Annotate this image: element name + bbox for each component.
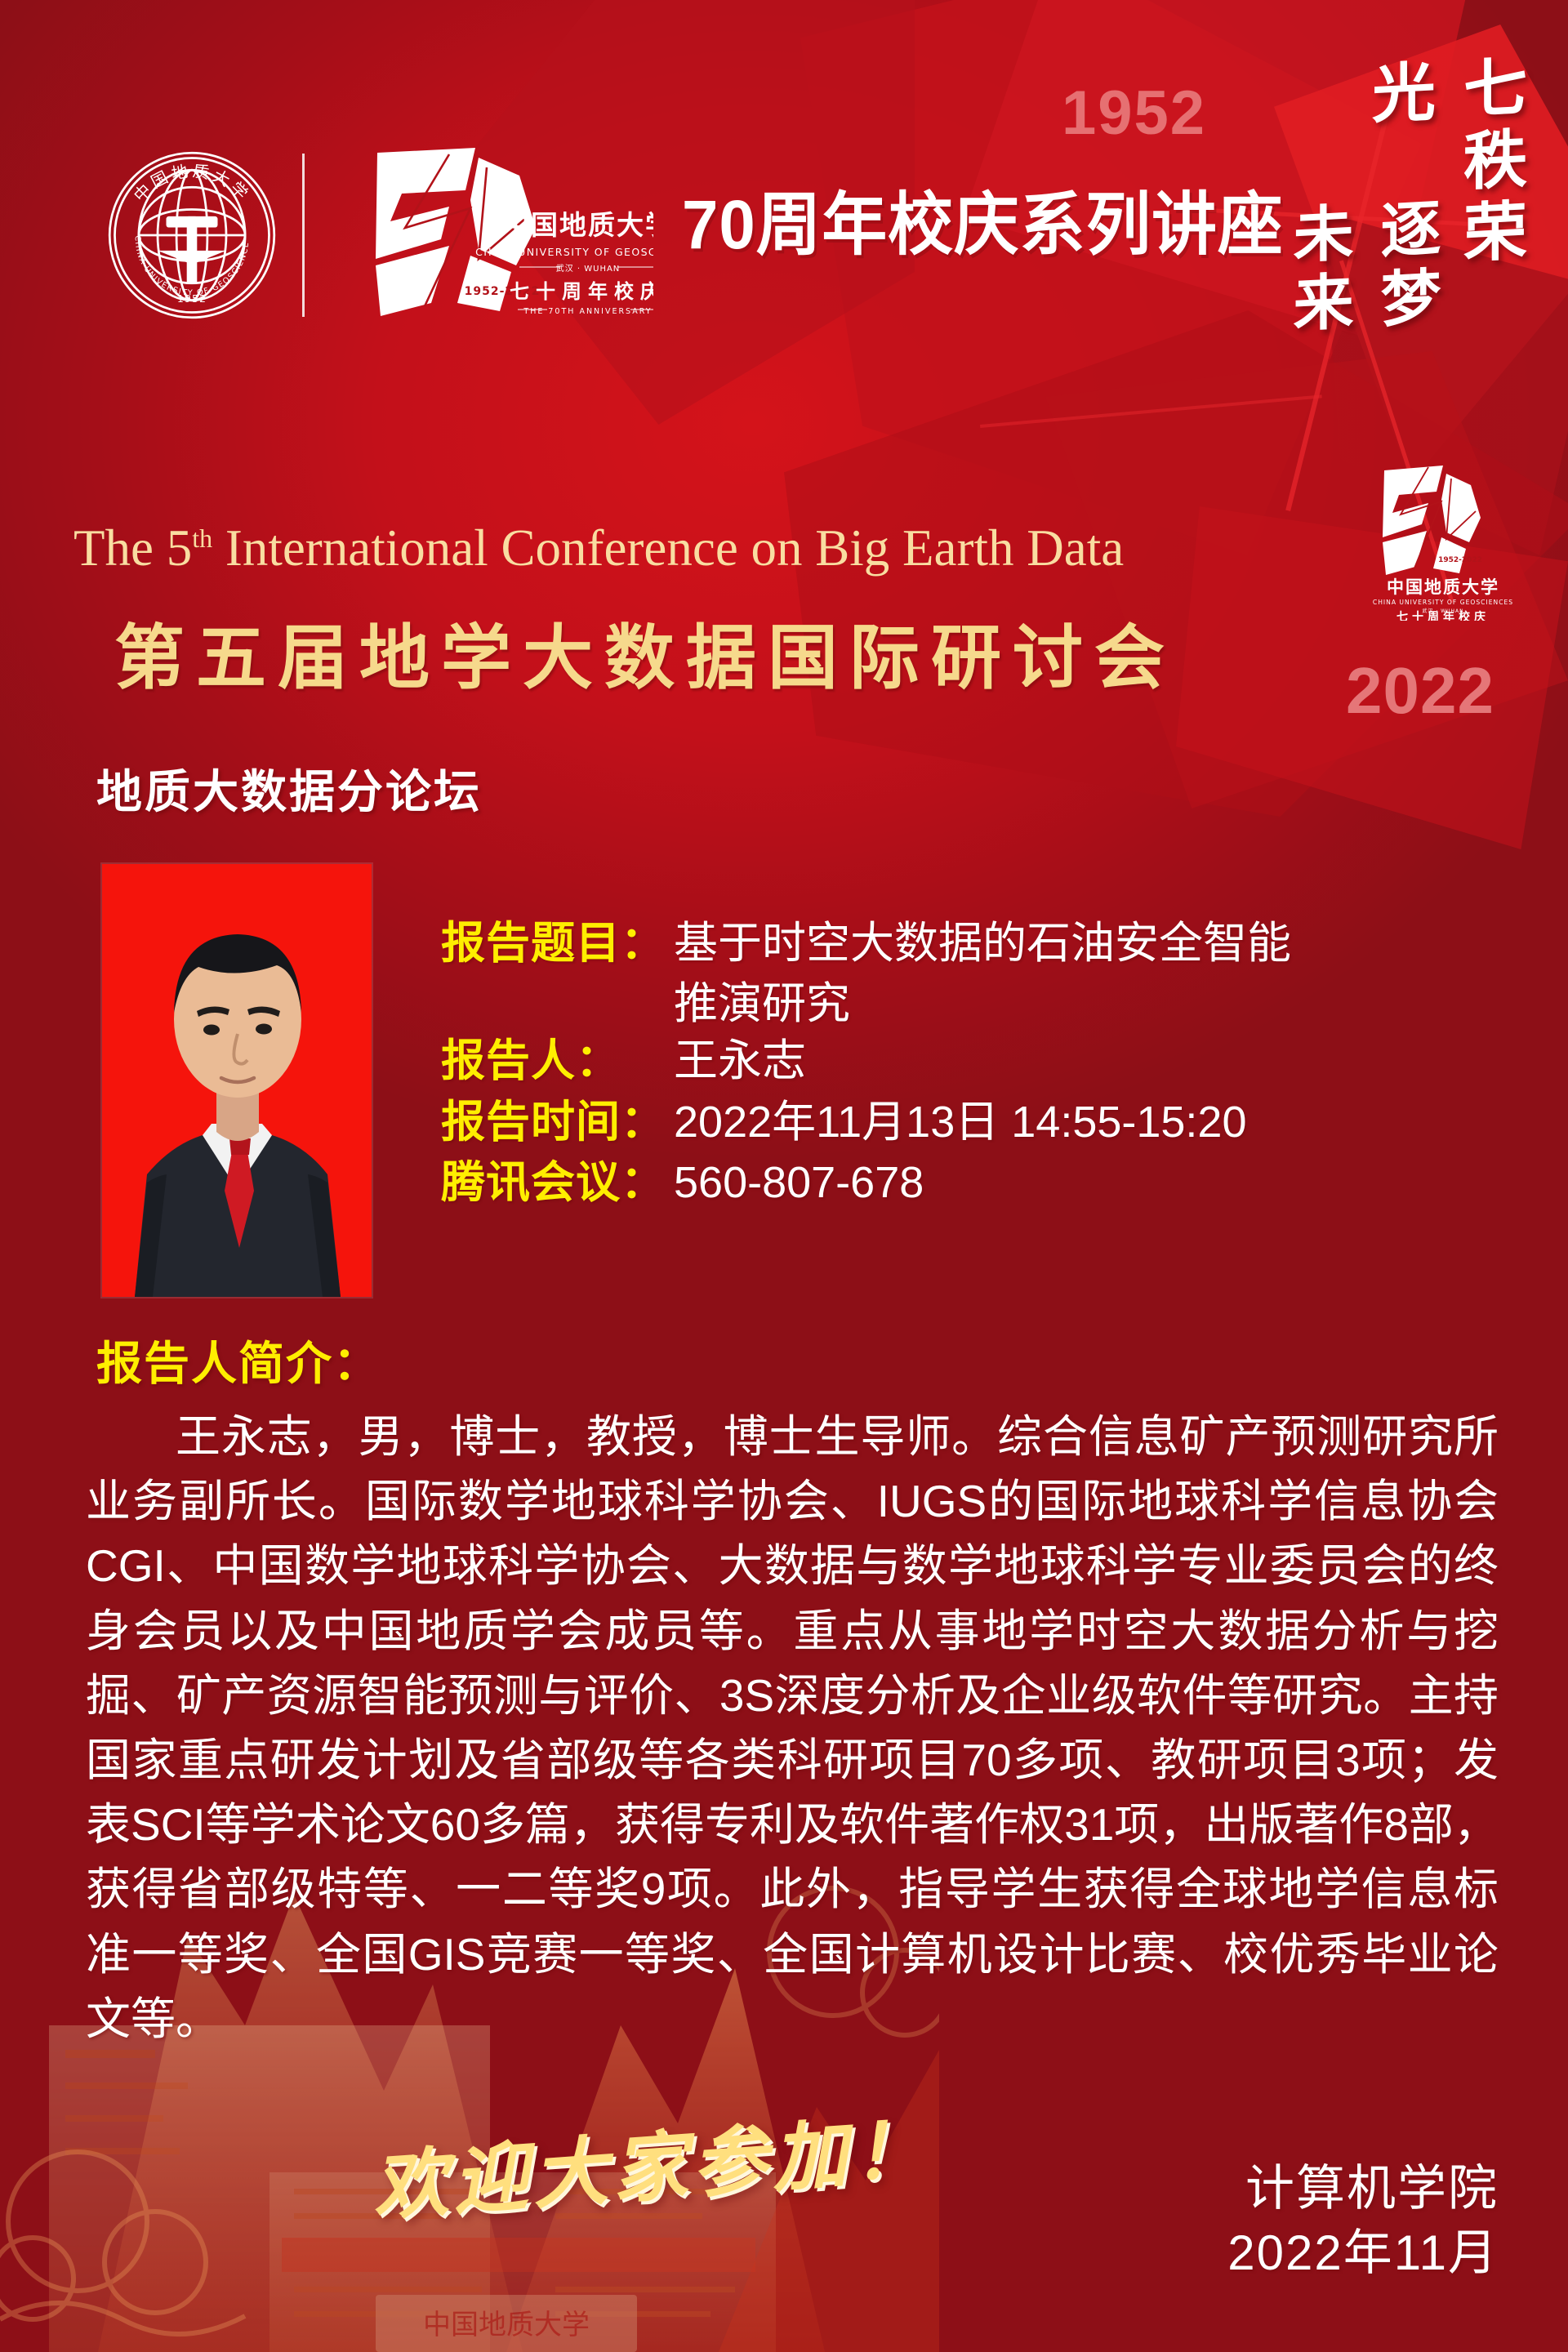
deco-building-sign: 中国地质大学 xyxy=(423,2309,590,2341)
logo-anniversary-cn: 七十周年校庆 xyxy=(510,279,653,303)
conference-title-en-prefix: The 5 xyxy=(73,519,192,577)
department-name: 计算机学院 xyxy=(1227,2156,1499,2221)
university-emblem-icon: 中国地质大学 CHINA UNIVERSITY OF GEOSCIENCES 1… xyxy=(106,149,278,321)
talk-title-value-line2: 推演研究 xyxy=(674,975,1535,1032)
poster-header: 中国地质大学 CHINA UNIVERSITY OF GEOSCIENCES 1… xyxy=(0,0,1568,343)
forum-name: 地质大数据分论坛 xyxy=(96,755,482,822)
logo-name-cn: 中国地质大学 xyxy=(502,209,653,241)
meeting-value: 560-807-678 xyxy=(674,1154,1535,1211)
banner-title: 70周年校庆系列讲座 xyxy=(682,170,1284,269)
talk-title-label: 报告题目： xyxy=(441,915,674,972)
bio-heading: 报告人简介： xyxy=(96,1327,381,1393)
talk-title-row: 报告题目： 基于时空大数据的石油安全智能 xyxy=(441,915,1535,972)
conference-title-en-ordinal: th xyxy=(192,523,212,553)
talk-info-block: 报告题目： 基于时空大数据的石油安全智能 推演研究 报告人： 王永志 报告时间：… xyxy=(441,915,1535,1214)
poster-root: 中国地质大学 xyxy=(0,0,1568,2352)
svg-text:中国地质大学: 中国地质大学 xyxy=(130,161,255,206)
bio-text: 王永志，男，博士，教授，博士生导师。综合信息矿产预测研究所业务副所长。国际数学地… xyxy=(86,1405,1499,2051)
poster-date: 2022年11月 xyxy=(1227,2221,1499,2285)
talk-title-value-line1: 基于时空大数据的石油安全智能 xyxy=(674,915,1535,972)
logo2-anniversary-cn: 七十周年校庆 xyxy=(1396,610,1490,621)
talk-time-label: 报告时间： xyxy=(441,1094,674,1151)
logo-city: 武汉 · WUHAN xyxy=(556,263,621,274)
logo2-name-cn: 中国地质大学 xyxy=(1387,577,1499,597)
speaker-portrait xyxy=(102,864,372,1297)
meeting-label: 腾讯会议： xyxy=(441,1154,674,1211)
conference-title-en: The 5th International Conference on Big … xyxy=(73,519,1331,578)
year-current-watermark: 2022 xyxy=(1346,653,1494,728)
talk-time-row: 报告时间： 2022年11月13日 14:55-15:20 xyxy=(441,1094,1535,1151)
emblem-name-cn: 中国地质大学 xyxy=(130,161,255,206)
conference-title-en-rest: International Conference on Big Earth Da… xyxy=(212,519,1124,577)
logo-anniversary-en: THE 70TH ANNIVERSARY xyxy=(523,307,652,316)
logo-name-en: CHINA UNIVERSITY OF GEOSCIENCES xyxy=(475,246,653,258)
year-founded-watermark: 1952 xyxy=(1062,78,1206,149)
talk-time-value: 2022年11月13日 14:55-15:20 xyxy=(674,1094,1535,1151)
logo2-name-en: CHINA UNIVERSITY OF GEOSCIENCES xyxy=(1373,599,1513,606)
header-divider xyxy=(302,154,305,317)
anniversary-logo-secondary: 1952-2022 中国地质大学 CHINA UNIVERSITY OF GEO… xyxy=(1352,457,1535,621)
conference-title-cn: 第五届地学大数据国际研讨会 xyxy=(114,600,1176,702)
speaker-label: 报告人： xyxy=(441,1032,674,1089)
meeting-row: 腾讯会议： 560-807-678 xyxy=(441,1154,1535,1211)
logo2-year-range: 1952-2022 xyxy=(1438,556,1482,564)
calligraphy-zhumeng-weilai: 逐梦未来 xyxy=(1275,195,1450,347)
speaker-row: 报告人： 王永志 xyxy=(441,1032,1535,1089)
speaker-value: 王永志 xyxy=(674,1032,1535,1089)
anniversary-logo-70: 1952-2022 中国地质大学 CHINA UNIVERSITY OF GEO… xyxy=(327,143,653,331)
department-block: 计算机学院 2022年11月 xyxy=(1227,2156,1499,2285)
emblem-founded-year: 1952 xyxy=(177,292,207,305)
